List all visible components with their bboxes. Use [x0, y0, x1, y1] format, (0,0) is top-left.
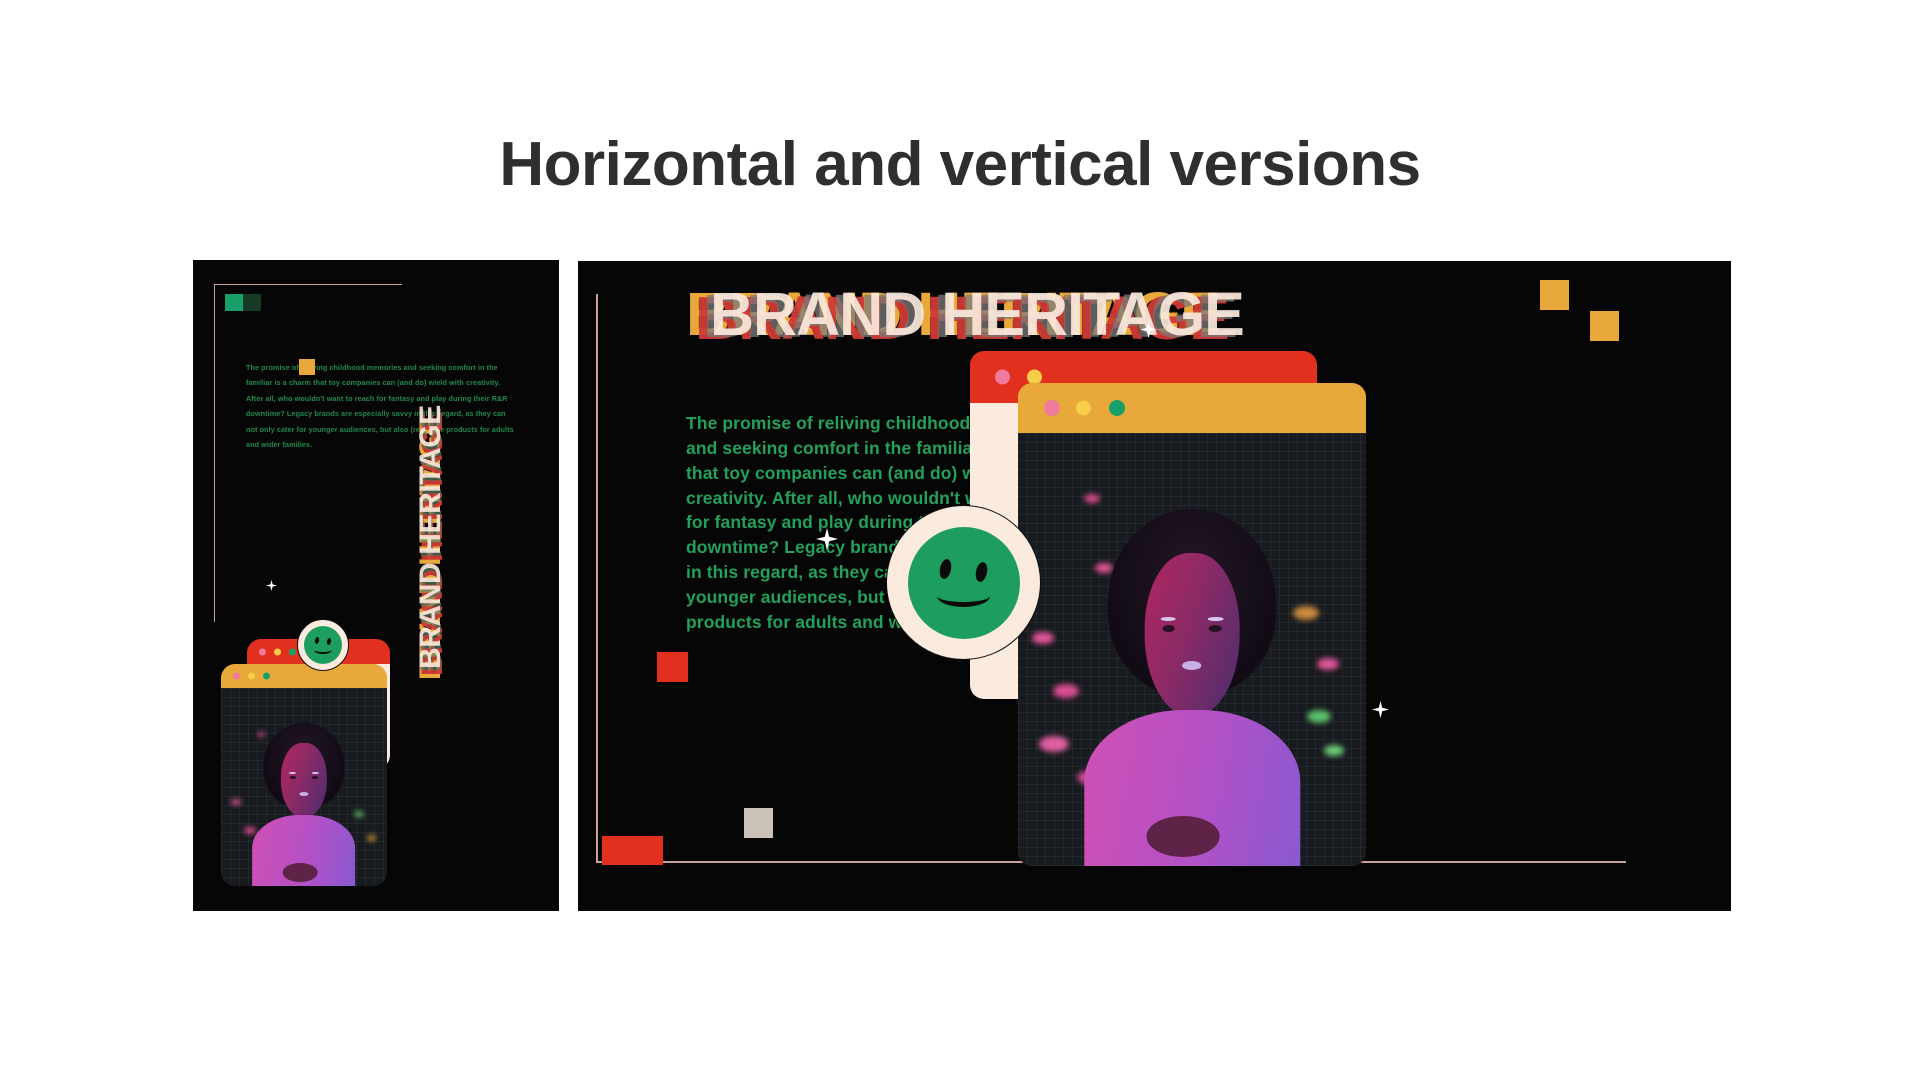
window-dot-pink[interactable] — [233, 673, 240, 680]
page-root: Horizontal and vertical versions The pro… — [0, 0, 1920, 1080]
window-dot-pink[interactable] — [259, 648, 266, 655]
frame-line-left — [214, 284, 215, 622]
smiley-badge[interactable] — [297, 619, 349, 671]
amber-swatch-top-right-1 — [1540, 280, 1569, 310]
amber-swatch — [299, 359, 315, 375]
horizontal-slide[interactable]: BRAND HERITAGE BRAND HERITAGE BRAND HERI… — [578, 261, 1731, 911]
window-dot-green[interactable] — [263, 673, 270, 680]
smiley-face-icon — [908, 527, 1020, 639]
red-swatch-left — [657, 652, 688, 682]
window-dot-green[interactable] — [1109, 400, 1125, 416]
headline-layer-cream: BRAND HERITAGE — [710, 284, 1350, 345]
smiley-badge[interactable] — [886, 505, 1041, 660]
window-dot-green[interactable] — [289, 648, 296, 655]
taupe-swatch-bottom — [744, 808, 773, 838]
frame-line-top — [214, 284, 402, 285]
window-dot-yellow[interactable] — [274, 648, 281, 655]
window-dot-pink[interactable] — [1044, 400, 1060, 416]
window-titlebar — [1018, 383, 1366, 433]
frame-line-left — [596, 294, 598, 862]
front-window[interactable] — [221, 664, 387, 886]
green-swatch — [225, 294, 243, 311]
window-dot-pink[interactable] — [995, 370, 1010, 385]
vertical-body-text: The promise of reliving childhood memori… — [246, 360, 518, 453]
window-dot-yellow[interactable] — [1076, 401, 1091, 416]
page-title: Horizontal and vertical versions — [0, 131, 1920, 199]
smiley-face-icon — [304, 626, 342, 664]
window-dot-yellow[interactable] — [248, 673, 255, 680]
vertical-poster[interactable]: The promise of reliving childhood memori… — [193, 260, 559, 911]
dark-green-swatch — [243, 294, 261, 311]
horizontal-headline: BRAND HERITAGE BRAND HERITAGE BRAND HERI… — [686, 284, 1326, 356]
vertical-headline: BRAND HERITAGE BRAND HERITAGE BRAND HERI… — [409, 370, 453, 680]
portrait-photo — [221, 688, 387, 886]
sparkle-icon — [266, 580, 277, 591]
vertical-headline-layer-cream: BRAND HERITAGE — [409, 359, 453, 669]
amber-swatch-top-right-2 — [1590, 311, 1619, 341]
window-titlebar — [221, 664, 387, 688]
photo-figure — [253, 716, 356, 886]
portrait-photo — [1018, 433, 1366, 866]
front-window[interactable] — [1018, 383, 1366, 866]
sparkle-icon — [1372, 701, 1389, 718]
red-rectangle-bottom-left — [602, 836, 663, 865]
photo-figure — [1084, 494, 1300, 866]
